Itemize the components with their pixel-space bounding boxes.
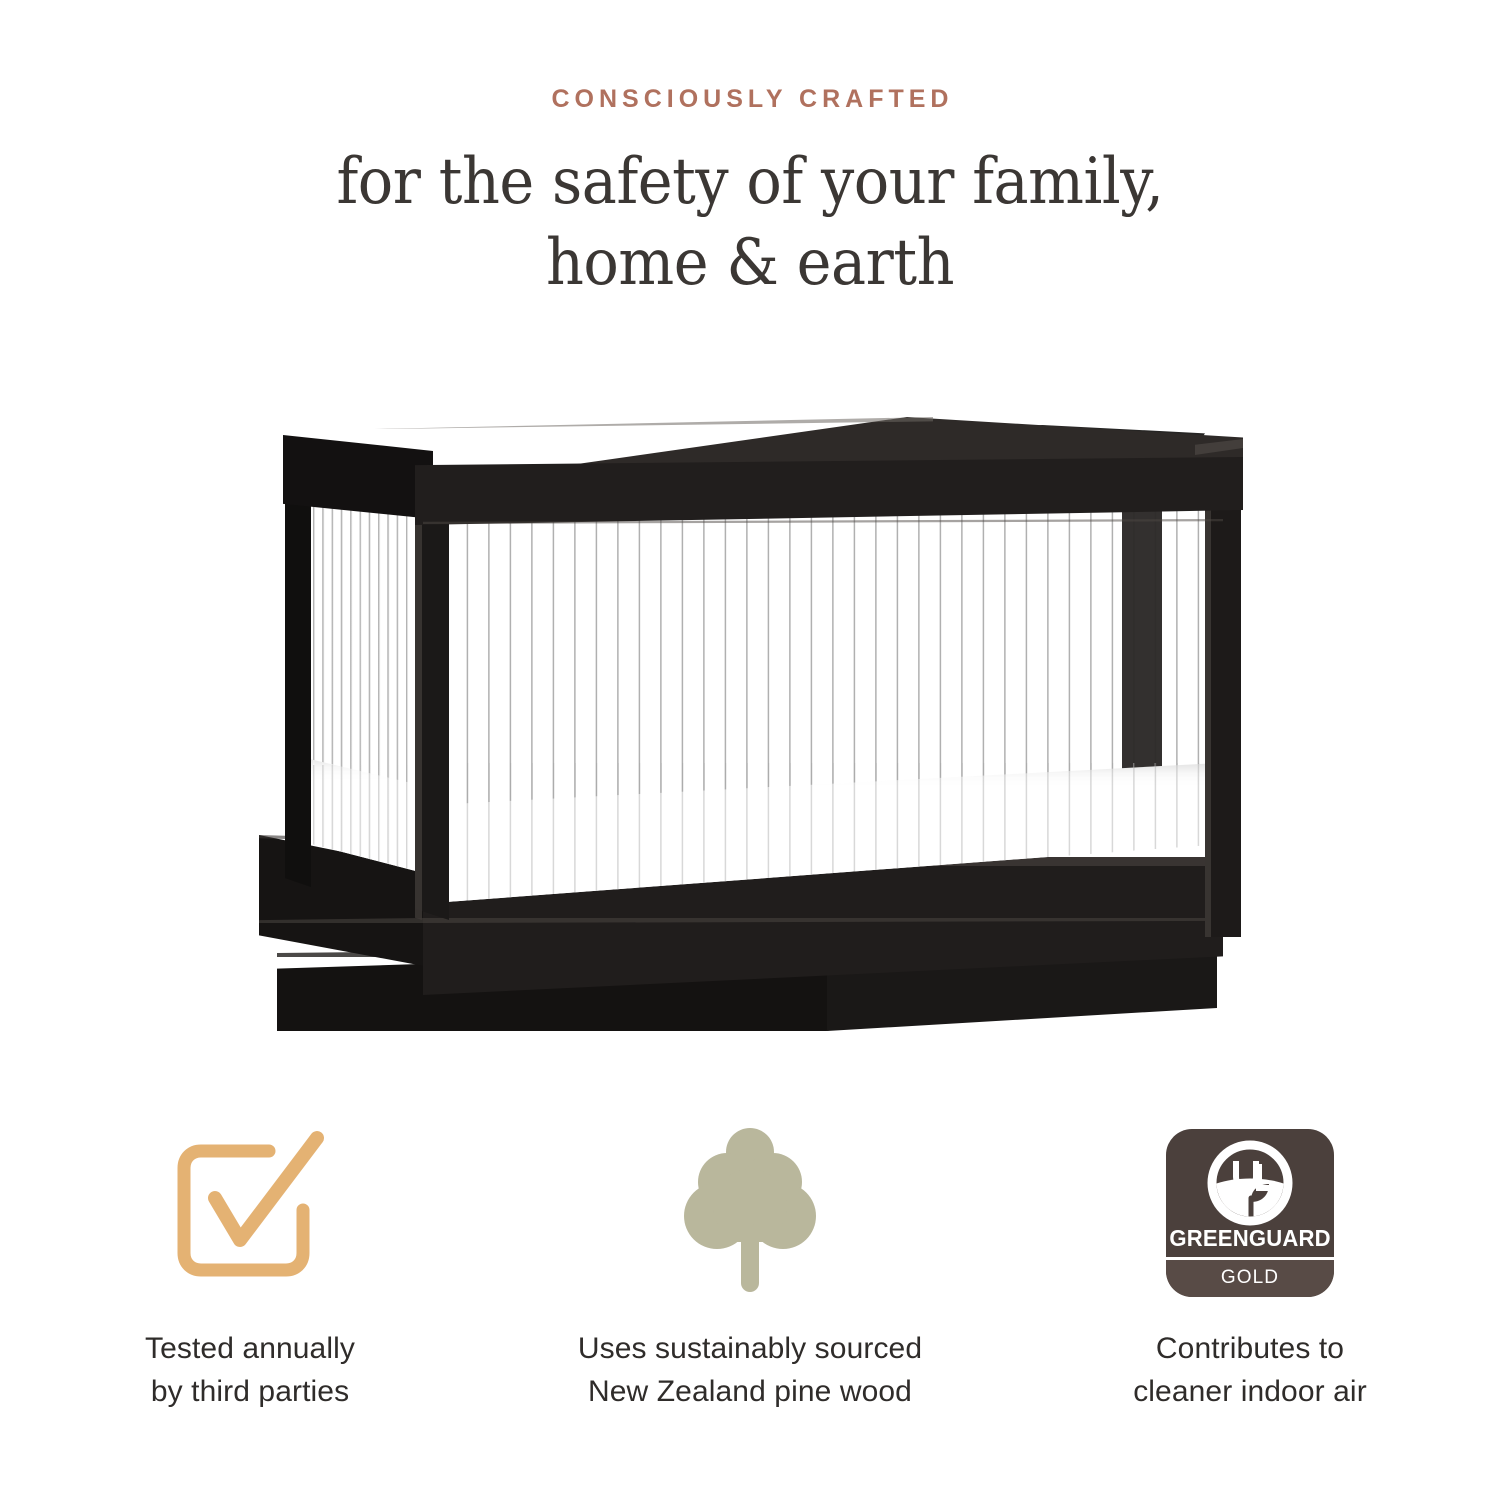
crib-post-front-right-highlight: [1205, 507, 1211, 937]
crib-post-rear-left: [285, 443, 311, 887]
feature-1-line-1: Tested annually: [145, 1328, 355, 1371]
ul-circle-mark: [1207, 1140, 1293, 1226]
crib-acrylic-panel-front: [433, 483, 1219, 903]
greenguard-level-band: GOLD: [1166, 1260, 1334, 1297]
feature-caption-tested-annually: Tested annually by third parties: [145, 1328, 355, 1413]
marketing-product-page: CONSCIOUSLY CRAFTED for the safety of yo…: [0, 0, 1500, 1500]
feature-item-sustainable-wood: Uses sustainably sourced New Zealand pin…: [500, 1120, 1000, 1413]
greenguard-gold-badge-icon: GREENGUARD GOLD: [1166, 1120, 1334, 1306]
feature-1-line-2: by third parties: [145, 1371, 355, 1414]
feature-row: Tested annually by third parties: [0, 1120, 1500, 1413]
greenguard-title: GREENGUARD: [1169, 1227, 1330, 1250]
feature-caption-cleaner-air: Contributes to cleaner indoor air: [1133, 1328, 1367, 1413]
feature-item-tested-annually: Tested annually by third parties: [0, 1120, 500, 1413]
header-block: CONSCIOUSLY CRAFTED for the safety of yo…: [0, 86, 1500, 305]
feature-2-line-1: Uses sustainably sourced: [578, 1328, 922, 1371]
tree-icon: [675, 1120, 825, 1306]
greenguard-badge: GREENGUARD GOLD: [1166, 1129, 1334, 1297]
feature-item-cleaner-air: GREENGUARD GOLD Contributes to cleaner i…: [1000, 1120, 1500, 1413]
headline-line-2: home & earth: [60, 223, 1440, 305]
checkbox-check-icon: [157, 1120, 343, 1306]
feature-3-line-2: cleaner indoor air: [1133, 1371, 1367, 1414]
crib-illustration: [255, 395, 1265, 1085]
page-title: for the safety of your family, home & ea…: [60, 142, 1440, 306]
greenguard-level: GOLD: [1221, 1267, 1279, 1289]
eyebrow-text: CONSCIOUSLY CRAFTED: [5, 86, 1500, 114]
headline-line-1: for the safety of your family,: [60, 142, 1440, 224]
product-image: [0, 395, 1500, 1085]
feature-3-line-1: Contributes to: [1133, 1328, 1367, 1371]
feature-2-line-2: New Zealand pine wood: [578, 1371, 922, 1414]
feature-caption-sustainable-wood: Uses sustainably sourced New Zealand pin…: [578, 1328, 922, 1413]
crib-post-front-left-highlight: [415, 468, 422, 920]
